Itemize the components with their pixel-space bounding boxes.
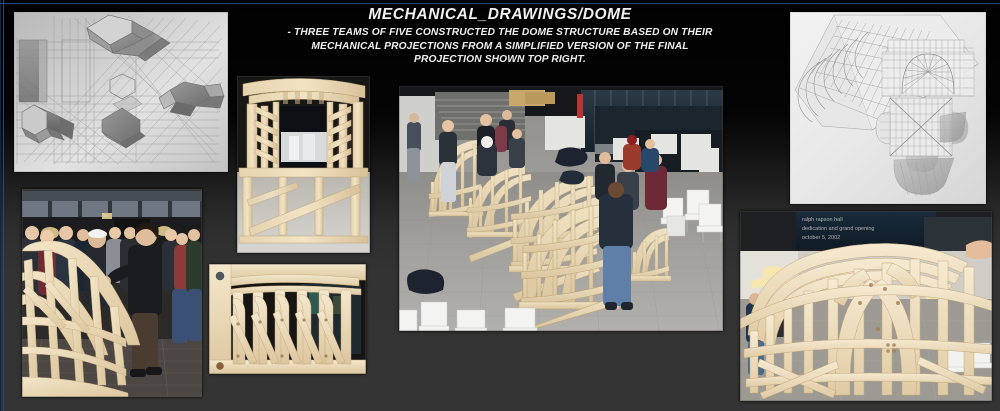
photo-wood-frame-interior: [237, 76, 370, 253]
photo-dome-closeup: ralph rapson hall dedication and grand o…: [740, 211, 992, 401]
presentation-board: MECHANICAL_DRAWINGS/DOME - THREE TEAMS O…: [0, 0, 1000, 411]
photo-atrium-overview: [399, 86, 723, 331]
photo-students-reviewing: [22, 189, 202, 397]
photo-joint-detail: [209, 264, 366, 374]
pencil-drawing-top-left: [14, 12, 228, 172]
top-accent-rule: [0, 3, 1000, 4]
banner-line-3: october 5, 2002: [802, 235, 840, 241]
banner-line-1: ralph rapson hall: [802, 217, 843, 223]
banner-line-2: dedication and grand opening: [802, 226, 874, 232]
pencil-drawing-top-right: [790, 12, 986, 204]
